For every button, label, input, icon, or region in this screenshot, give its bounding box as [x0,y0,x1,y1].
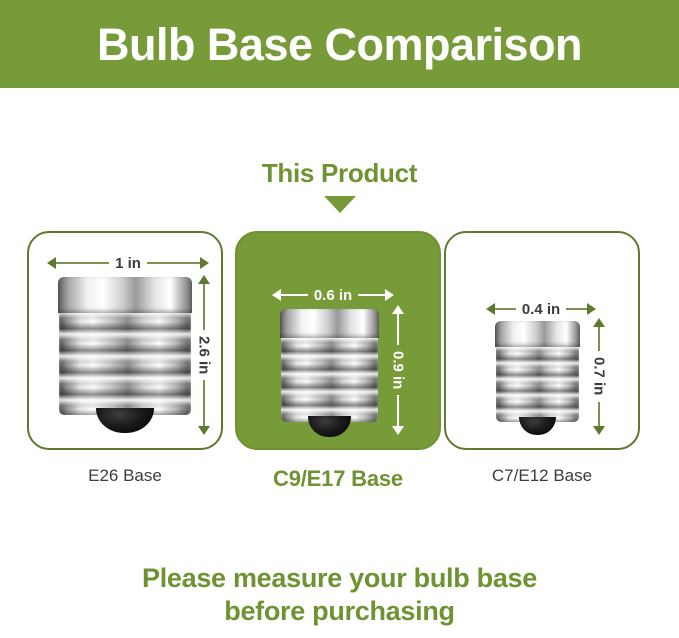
dimension-line [358,294,385,296]
arrow-down-icon [198,426,210,435]
width-dimension-e26: 1 in [47,254,209,272]
arrow-down-icon [593,426,605,435]
bulb-foot-contact [519,417,556,435]
dimension-line [397,395,399,426]
dimension-line [203,380,205,426]
footer-line-2: before purchasing [0,595,679,628]
height-label-c9-e17: 0.9 in [391,345,406,395]
width-label-e26: 1 in [109,256,147,271]
card-captions: E26 Base C9/E17 Base C7/E12 Base [0,466,679,500]
arrow-right-icon [200,257,209,269]
bulb-collar [280,309,379,338]
dimension-line [281,294,308,296]
dimension-line [566,308,587,310]
arrow-left-icon [272,289,281,301]
arrow-right-icon [587,303,596,315]
bulb-foot-contact [96,408,154,433]
triangle-down-icon [324,196,356,213]
height-dimension-c9-e17: 0.9 in [389,305,407,435]
height-label-c7-e12: 0.7 in [592,351,607,401]
header-banner: Bulb Base Comparison [0,0,679,88]
bulb-collar [58,277,193,313]
bulb-base-image-c9-e17 [281,310,378,422]
caption-e26: E26 Base [27,466,223,486]
this-product-callout: This Product [0,160,679,213]
dimension-line [598,402,600,426]
dimension-line [397,314,399,345]
footer-notice: Please measure your bulb base before pur… [0,562,679,628]
dimension-line [56,262,109,264]
arrow-up-icon [198,275,210,284]
arrow-left-icon [47,257,56,269]
page-title: Bulb Base Comparison [97,22,582,67]
base-card-c9-e17[interactable]: 0.6 in 0.9 in [235,231,441,450]
dimension-line [495,308,516,310]
width-label-c9-e17: 0.6 in [308,288,358,303]
width-label-c7-e12: 0.4 in [516,302,566,317]
arrow-up-icon [593,318,605,327]
bulb-base-image-c7-e12 [496,322,579,422]
height-dimension-e26: 2.6 in [195,275,213,435]
dimension-line [147,262,200,264]
height-label-e26: 2.6 in [197,330,212,380]
height-dimension-c7-e12: 0.7 in [590,318,608,435]
bulb-base-image-e26 [59,278,191,415]
footer-line-1: Please measure your bulb base [0,562,679,595]
comparison-cards: 1 in 2.6 in 0.6 in [0,231,679,450]
arrow-left-icon [486,303,495,315]
base-card-c7-e12[interactable]: 0.4 in 0.7 in [444,231,640,450]
arrow-down-icon [392,426,404,435]
arrow-up-icon [392,305,404,314]
dimension-line [598,327,600,351]
this-product-label: This Product [0,160,679,186]
dimension-line [203,284,205,330]
caption-c7-e12: C7/E12 Base [444,466,640,486]
bulb-foot-contact [308,416,351,436]
arrow-right-icon [385,289,394,301]
bulb-collar [495,321,580,347]
caption-c9-e17: C9/E17 Base [235,466,441,492]
base-card-e26[interactable]: 1 in 2.6 in [27,231,223,450]
width-dimension-c9-e17: 0.6 in [272,286,394,304]
width-dimension-c7-e12: 0.4 in [486,300,596,318]
